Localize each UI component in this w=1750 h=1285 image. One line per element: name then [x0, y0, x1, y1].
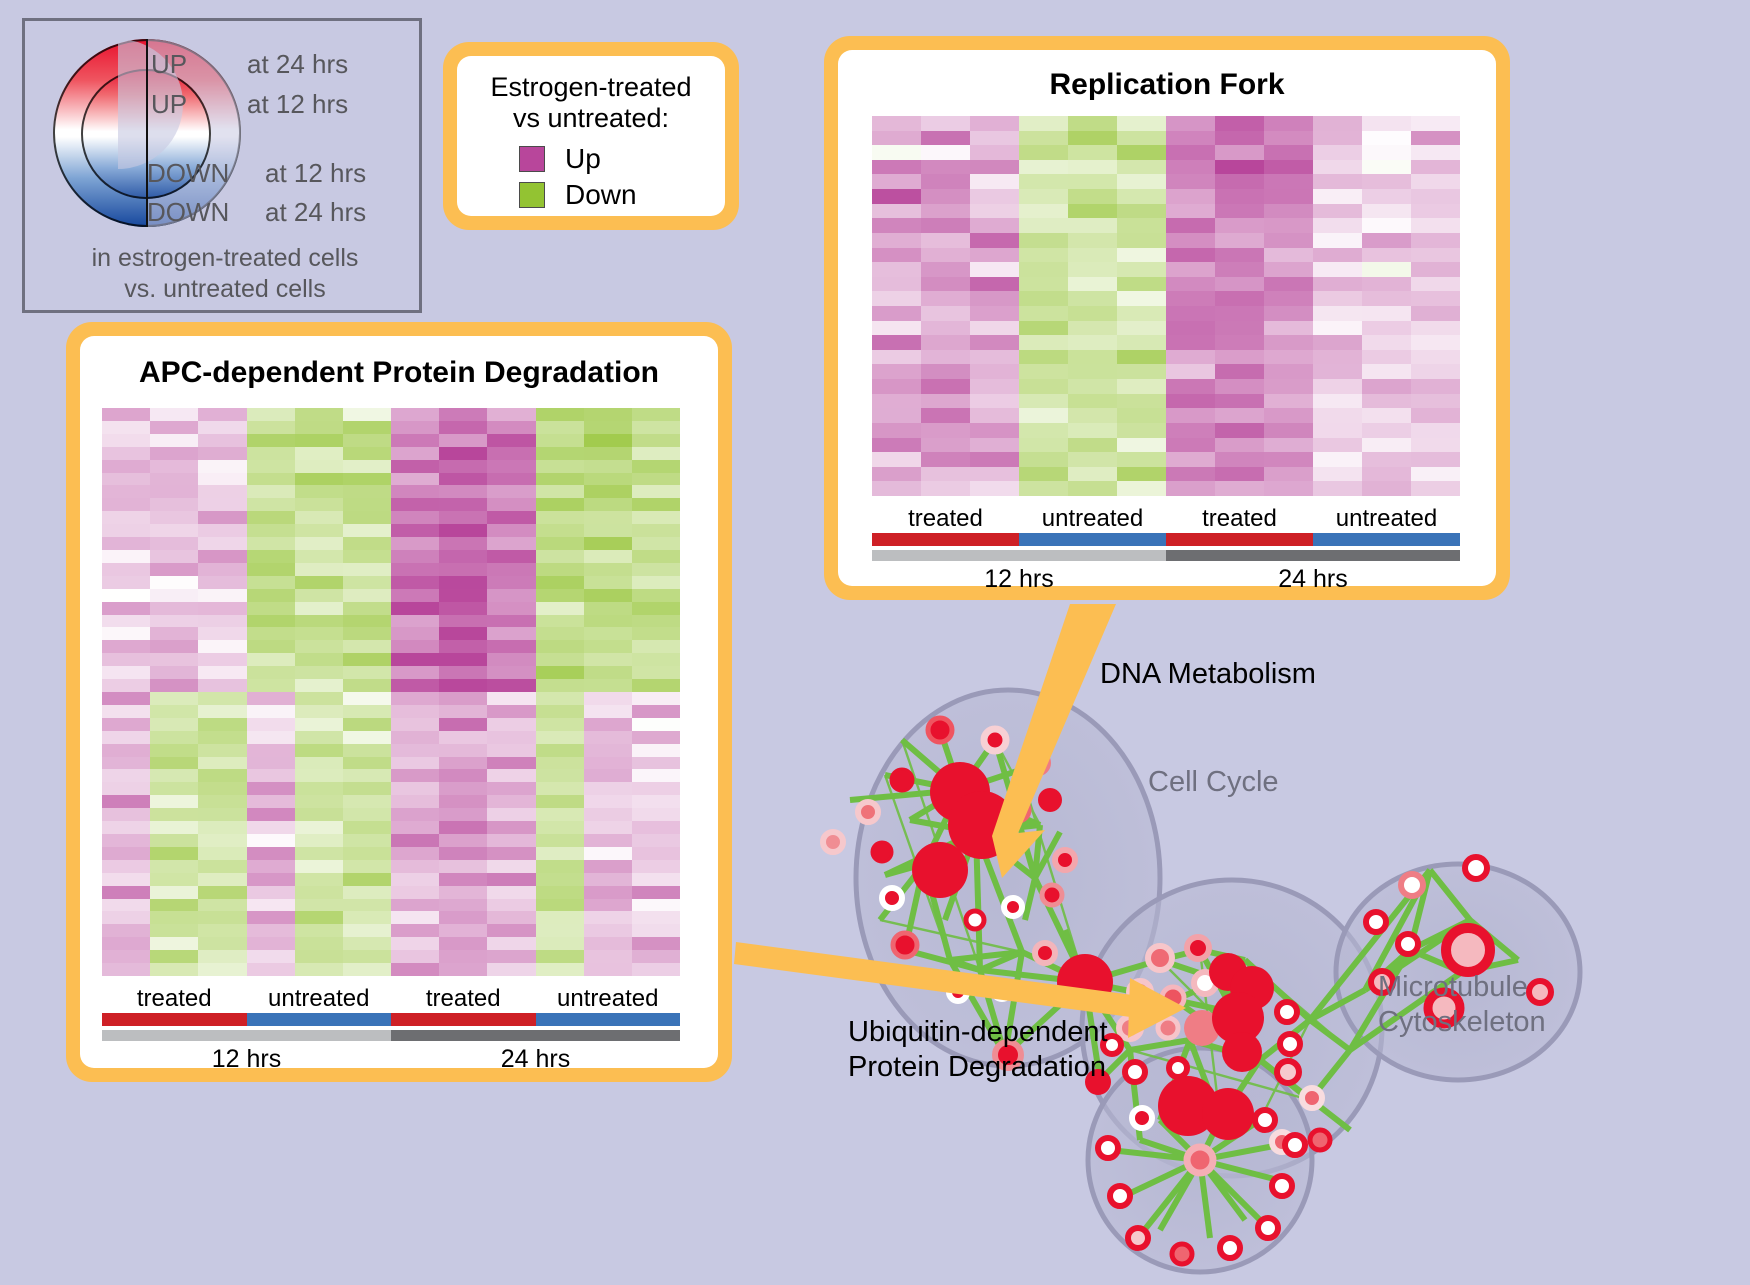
apc-time-bar [102, 1030, 680, 1041]
node [1272, 1176, 1292, 1196]
apc-degradation-heatmap [102, 408, 680, 976]
pathway-network: DNA Metabolism Cell Cycle Microtubule Cy… [790, 620, 1750, 1280]
replication-fork-time-labels: 12 hrs 24 hrs [872, 565, 1460, 594]
node [1172, 1244, 1192, 1264]
ubiquitin-label-line1: Ubiquitin-dependent [848, 1015, 1108, 1050]
key-label-down: Down [565, 179, 637, 211]
apc-col-label-3: untreated [536, 985, 681, 1013]
node [1187, 937, 1209, 959]
rf-col-label-3: untreated [1313, 505, 1460, 533]
replication-fork-card: Replication Fork treated untreated treat… [824, 36, 1510, 600]
rf-col-label-2: treated [1166, 505, 1313, 533]
node [1366, 912, 1386, 932]
updown-key-title-line1: Estrogen-treated [457, 72, 725, 103]
node [882, 888, 902, 908]
cluster-label-cell-cycle: Cell Cycle [1148, 766, 1279, 799]
apc-treatment-bar [102, 1013, 680, 1026]
rf-bar-treated-24 [1166, 533, 1313, 546]
cluster-label-microtubule: Microtubule Cytoskeleton [1378, 970, 1546, 1040]
node [1132, 1108, 1152, 1128]
node [912, 842, 968, 898]
node [1202, 1088, 1254, 1140]
cluster-label-ubiquitin: Ubiquitin-dependent Protein Degradation [848, 1015, 1108, 1085]
rf-bar-untreated-24 [1313, 533, 1460, 546]
node [858, 802, 878, 822]
apc-timebar-12 [102, 1030, 391, 1041]
apc-degradation-body: APC-dependent Protein Degradation treate… [80, 336, 718, 1068]
node [1169, 1059, 1187, 1077]
updown-key-items: Up Down [457, 141, 725, 213]
apc-bar-treated-24 [391, 1013, 536, 1026]
node [966, 911, 984, 929]
node [1187, 1147, 1213, 1173]
colorwheel-footer-line2: vs. untreated cells [25, 274, 425, 305]
node [1007, 799, 1029, 821]
wheel-label-down-24: DOWN [147, 197, 229, 228]
node [1220, 1238, 1240, 1258]
apc-degradation-card: APC-dependent Protein Degradation treate… [66, 322, 732, 1082]
node [1028, 753, 1048, 773]
rf-time-label-12: 12 hrs [872, 565, 1166, 594]
node [1128, 1228, 1148, 1248]
updown-key-title-line2: vs untreated: [457, 103, 725, 134]
node [1465, 857, 1487, 879]
node [949, 983, 967, 1001]
replication-fork-time-bar [872, 550, 1460, 561]
wheel-label-up-12: UP [151, 89, 187, 120]
rf-time-label-24: 24 hrs [1166, 565, 1460, 594]
key-item-down: Down [519, 177, 725, 213]
rf-col-label-0: treated [872, 505, 1019, 533]
rf-bar-treated-12 [872, 533, 1019, 546]
rf-timebar-24 [1166, 550, 1460, 561]
node [1148, 946, 1172, 970]
wheel-label-up-24: UP [151, 49, 187, 80]
updown-key-card: Estrogen-treated vs untreated: Up Down [443, 42, 739, 230]
rf-timebar-12 [872, 550, 1166, 561]
replication-fork-treatment-bar [872, 533, 1460, 546]
microtubule-label-line2: Cytoskeleton [1378, 1005, 1546, 1040]
node [1119, 1017, 1141, 1039]
node [1255, 1110, 1275, 1130]
node [1162, 987, 1184, 1009]
node [1125, 1062, 1145, 1082]
node [1129, 981, 1151, 1003]
node [1302, 1088, 1322, 1108]
node [1277, 1002, 1297, 1022]
node [1098, 1138, 1118, 1158]
node [984, 729, 1006, 751]
apc-col-label-1: untreated [247, 985, 392, 1013]
apc-timebar-24 [391, 1030, 680, 1041]
node [823, 832, 843, 852]
node [1398, 934, 1418, 954]
wheel-time-up-12: at 12 hrs [247, 89, 348, 120]
ubiquitin-label-line2: Protein Degradation [848, 1050, 1108, 1085]
node [1280, 1034, 1300, 1054]
node [1110, 1186, 1130, 1206]
node [1038, 788, 1062, 812]
apc-bar-untreated-12 [247, 1013, 392, 1026]
node [1222, 1032, 1262, 1072]
node [993, 981, 1011, 999]
network-svg [790, 620, 1750, 1280]
apc-bar-treated-12 [102, 1013, 247, 1026]
updown-key-body: Estrogen-treated vs untreated: Up Down [457, 56, 725, 216]
node [1285, 1135, 1305, 1155]
node [928, 718, 952, 742]
key-label-up: Up [565, 143, 601, 175]
colorwheel-legend: UP at 24 hrs UP at 12 hrs DOWN at 12 hrs… [22, 18, 422, 313]
node [1004, 898, 1022, 916]
wheel-time-down-24: at 24 hrs [265, 197, 366, 228]
apc-bar-untreated-24 [536, 1013, 681, 1026]
figure-canvas: UP at 24 hrs UP at 12 hrs DOWN at 12 hrs… [0, 0, 1750, 1279]
key-item-up: Up [519, 141, 725, 177]
node [1277, 1061, 1299, 1083]
replication-fork-body: Replication Fork treated untreated treat… [838, 50, 1496, 586]
node [893, 933, 917, 957]
node [1401, 874, 1423, 896]
microtubule-label-line1: Microtubule [1378, 970, 1546, 1005]
node [1446, 928, 1490, 972]
node [1035, 943, 1055, 963]
node [1158, 1018, 1178, 1038]
cluster-label-dna-metabolism: DNA Metabolism [1100, 658, 1316, 691]
apc-time-label-24: 24 hrs [391, 1045, 680, 1074]
node [1057, 954, 1113, 1010]
rf-bar-untreated-12 [1019, 533, 1166, 546]
apc-time-label-12: 12 hrs [102, 1045, 391, 1074]
wheel-time-up-24: at 24 hrs [247, 49, 348, 80]
swatch-down-icon [519, 182, 545, 208]
updown-key-title: Estrogen-treated vs untreated: [457, 56, 725, 135]
apc-time-labels: 12 hrs 24 hrs [102, 1045, 680, 1074]
apc-col-label-2: treated [391, 985, 536, 1013]
apc-degradation-title: APC-dependent Protein Degradation [80, 336, 718, 390]
node [1258, 1218, 1278, 1238]
node [872, 842, 892, 862]
replication-fork-heatmap [872, 116, 1460, 496]
replication-fork-column-labels: treated untreated treated untreated [872, 505, 1460, 533]
wheel-label-down-12: DOWN [147, 158, 229, 189]
node [1042, 885, 1062, 905]
apc-column-labels: treated untreated treated untreated [102, 985, 680, 1013]
swatch-up-icon [519, 146, 545, 172]
node [1055, 850, 1075, 870]
node [891, 769, 913, 791]
wheel-time-down-12: at 12 hrs [265, 158, 366, 189]
replication-fork-title: Replication Fork [838, 50, 1496, 102]
colorwheel-footer-line1: in estrogen-treated cells [25, 243, 425, 274]
apc-col-label-0: treated [102, 985, 247, 1013]
node [1310, 1130, 1330, 1150]
rf-col-label-1: untreated [1019, 505, 1166, 533]
colorwheel-footer: in estrogen-treated cells vs. untreated … [25, 243, 425, 306]
